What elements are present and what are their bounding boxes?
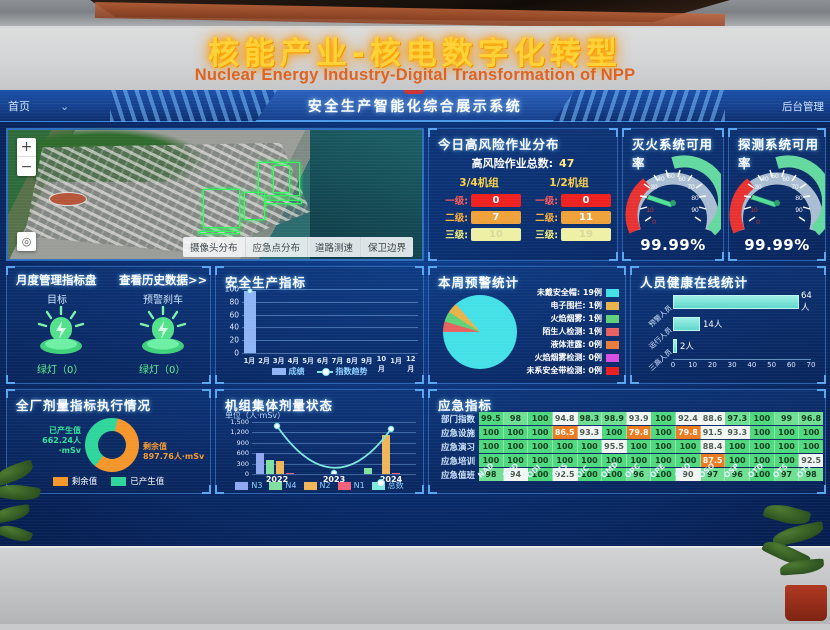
table-cell: 100: [528, 426, 553, 439]
view-history-link[interactable]: 查看历史数据>>: [119, 272, 207, 288]
y-tick: 1,500: [230, 418, 249, 426]
bar-operation-personnel: [673, 317, 700, 331]
risk-total: 高风险作业总数:47: [429, 155, 617, 171]
table-cell: 93.9: [627, 412, 652, 425]
risk-row: 二级: 7: [437, 210, 521, 224]
table-cell: 100: [676, 440, 701, 453]
gauge1-dial: 01020 304050 607080 90: [625, 155, 721, 239]
legend-swatch: [338, 482, 351, 490]
nav-home[interactable]: 首页: [8, 98, 30, 114]
y-tick: 1,200: [230, 428, 249, 436]
high-risk-distribution-panel: 今日高风险作业分布 高风险作业总数:47 3/4机组 一级: 0 二级: 7: [428, 128, 618, 261]
legend-swatch: [606, 328, 619, 336]
legend-item: 未系安全带检测: 0例: [501, 365, 619, 376]
table-cell: 100: [799, 426, 823, 439]
weekly-alarm-panel: 本周预警统计 未戴安全帽: 19例 电子围栏: 1例 火焰烟雾: 1例 陌生人检…: [428, 266, 626, 384]
health-bar-plot: 预警人员 64人 运行人员 14人 三高人员 2人: [673, 293, 811, 359]
y-tick: 300: [237, 460, 249, 468]
legend-item: 陌生人检测: 1例: [501, 326, 619, 337]
svg-text:60: 60: [678, 176, 686, 183]
legend-swatch: [111, 477, 126, 486]
screenshot-root: 核能产业-核电数字化转型 Nuclear Energy Industry-Dig…: [0, 0, 830, 624]
map-button-emergency-points[interactable]: 应急点分布: [246, 237, 309, 257]
legend-item: N1: [338, 481, 365, 490]
map-layer-buttons[interactable]: 摄像头分布 应急点分布 道路测速 保卫边界: [183, 237, 413, 257]
risk-level-value: 11: [561, 211, 611, 224]
unit-collective-dose-panel: 机组集体剂量状态 单位（人·mSv） 1,500 1,200 900 600 3…: [215, 389, 424, 494]
bar-three-high-personnel: [673, 339, 677, 353]
personnel-health-panel: 人员健康在线统计 预警人员 64人 运行人员 14人 三高人员 2人 0 10 …: [630, 266, 826, 384]
table-cell: 86.5: [553, 426, 578, 439]
map-unit-building: [244, 192, 265, 220]
svg-text:30: 30: [650, 184, 658, 191]
legend-item: 液体泄露: 0例: [501, 339, 619, 350]
legend-swatch: [53, 477, 68, 486]
svg-text:90: 90: [691, 207, 699, 214]
x-tick: 70: [807, 361, 816, 369]
legend-swatch: [606, 315, 619, 323]
gauge2-dial: 01020 304050 607080 90: [729, 155, 825, 239]
risk-total-value: 47: [559, 157, 574, 170]
risk-total-label: 高风险作业总数:: [472, 157, 553, 170]
zoom-in-icon[interactable]: +: [17, 138, 36, 157]
legend-item: 未戴安全帽: 19例: [501, 287, 619, 298]
svg-text:40: 40: [761, 176, 769, 183]
emergency-indicator-panel: 应急指标 部门指数99.59810094.898.398.993.910092.…: [428, 389, 826, 494]
y-tick: 预警人员: [647, 303, 674, 329]
legend-swatch: [606, 354, 619, 362]
legend-swatch: [606, 302, 619, 310]
monthly-title: 月度管理指标盘: [16, 272, 97, 288]
svg-text:90: 90: [795, 207, 803, 214]
app-header: 安全生产智能化综合展示系统 首页 ⌄ 后台管理: [0, 90, 830, 122]
chevron-down-icon[interactable]: ⌄: [60, 100, 69, 113]
table-cell: 100: [528, 412, 553, 425]
x-tick: 20: [708, 361, 717, 369]
svg-text:10: 10: [646, 207, 654, 214]
legend-item: N4: [269, 481, 296, 490]
map-button-road-speed[interactable]: 道路测速: [308, 237, 361, 257]
risk-group-12: 1/2机组 一级: 0 二级: 11 三级: 19: [527, 175, 611, 244]
page-title-en: Nuclear Energy Industry-Digital Transfor…: [0, 66, 830, 85]
table-cell: 100: [775, 426, 800, 439]
svg-text:60: 60: [782, 176, 790, 183]
safety-production-indicator-panel: 安全生产指标 100 80 60 40 20 0 1月 2月 3月 4月 5月 …: [215, 266, 424, 384]
bar-value: 14人: [703, 318, 722, 330]
map-zoom-controls[interactable]: + −: [17, 138, 36, 176]
table-cell: 88.4: [701, 440, 726, 453]
risk-row: 二级: 11: [527, 210, 611, 224]
site-map-panel[interactable]: + − ◎ 摄像头分布 应急点分布 道路测速 保卫边界: [6, 128, 424, 261]
table-cell: 88.6: [701, 412, 726, 425]
table-cell: 100: [651, 440, 676, 453]
bar-warning-personnel: [673, 295, 799, 309]
table-row: 部门指数99.59810094.898.398.993.910092.488.6…: [433, 412, 823, 425]
row-label: 应急设施: [433, 426, 479, 439]
y-tick: 80: [229, 297, 239, 306]
row-label: 应急培训: [433, 454, 479, 467]
table-cell: 91.5: [701, 426, 726, 439]
table-cell: 100: [479, 440, 504, 453]
risk-level-value: 10: [471, 228, 521, 241]
legend-swatch: [304, 482, 317, 490]
table-cell: 98.9: [602, 412, 627, 425]
x-tick: 0: [671, 361, 675, 369]
row-label: 应急值班: [433, 468, 479, 481]
total-trend-line: [252, 422, 416, 474]
legend-item: 火焰烟雾: 1例: [501, 313, 619, 324]
y-tick: 900: [237, 439, 249, 447]
dose-chart-title: 全厂剂量指标执行情况: [16, 395, 151, 414]
legend-item: 火焰烟雾检测: 0例: [501, 352, 619, 363]
table-cell: 97.3: [725, 412, 750, 425]
risk-columns: 3/4机组 一级: 0 二级: 7 三级: 10 1/2机组: [437, 175, 611, 244]
table-cell: 100: [504, 440, 529, 453]
health-axis-line: [673, 359, 811, 360]
legend-item: N3: [235, 481, 262, 490]
unit-chart-plot: 1,500 1,200 900 600 300 0: [252, 422, 416, 474]
dose-remaining-label: 剩余值 897.76人·mSv: [143, 442, 204, 462]
system-title: 安全生产智能化综合展示系统: [255, 90, 575, 122]
risk-level-value: 0: [471, 194, 521, 207]
risk-row: 三级: 10: [437, 227, 521, 241]
risk-level-label: 三级:: [527, 227, 561, 241]
table-cell: 100: [528, 440, 553, 453]
table-cell: 100: [553, 440, 578, 453]
legend-item: 总数: [372, 480, 404, 491]
risk-level-value: 19: [561, 228, 611, 241]
table-cell: 100: [799, 440, 823, 453]
x-tick: 40: [747, 361, 756, 369]
svg-text:0: 0: [756, 219, 760, 226]
risk-group-title: 3/4机组: [437, 175, 521, 190]
wall-below-screen: [0, 548, 830, 624]
x-tick: 30: [728, 361, 737, 369]
table-cell: 99.5: [479, 412, 504, 425]
table-cell: 99: [775, 412, 800, 425]
safety-chart-plot: 100 80 60 40 20 0: [242, 289, 418, 353]
map-button-perimeter[interactable]: 保卫边界: [361, 237, 413, 257]
bar-value: 2人: [680, 340, 694, 352]
risk-row: 一级: 0: [437, 193, 521, 207]
legend-item: 剩余值: [53, 475, 98, 487]
header-stripes-right: [555, 90, 725, 122]
detection-availability-panel: 探测系统可用率 01020: [728, 128, 826, 261]
x-tick: 10: [688, 361, 697, 369]
map-button-cameras[interactable]: 摄像头分布: [183, 237, 246, 257]
legend-trend: 指数趋势: [317, 366, 368, 377]
monthly-warning-brake-label: 预警刹车: [143, 291, 183, 306]
svg-text:80: 80: [691, 195, 699, 202]
table-cell: 100: [750, 426, 775, 439]
table-cell: 79.8: [627, 426, 652, 439]
table-cell: 100: [775, 440, 800, 453]
gauge2-value: 99.99%: [729, 236, 825, 254]
svg-text:50: 50: [667, 173, 675, 180]
table-cell: 100: [627, 440, 652, 453]
display-screen: 安全生产智能化综合展示系统 首页 ⌄ 后台管理 + −: [0, 90, 830, 548]
legend-score: 成绩: [272, 366, 305, 377]
table-cell: 95.5: [602, 440, 627, 453]
legend-swatch: [606, 341, 619, 349]
map-boundary-line: [265, 200, 302, 204]
table-row: 应急设施10010010086.593.310079.810079.891.59…: [433, 426, 823, 439]
y-tick: 600: [237, 449, 249, 457]
fire-suppression-availability-panel: 灭火系统可用率 01020: [622, 128, 724, 261]
green-light-icon: [131, 305, 195, 357]
legend-item: 已产生值: [111, 475, 164, 487]
row-label: 应急演习: [433, 440, 479, 453]
table-cell: 96.8: [799, 412, 823, 425]
risk-level-label: 一级:: [437, 193, 471, 207]
health-chart-title: 人员健康在线统计: [640, 272, 748, 291]
svg-text:80: 80: [795, 195, 803, 202]
svg-text:70: 70: [687, 184, 695, 191]
nav-admin[interactable]: 后台管理: [782, 99, 824, 114]
table-cell: 100: [578, 440, 603, 453]
risk-group-34: 3/4机组 一级: 0 二级: 7 三级: 10: [437, 175, 521, 244]
table-cell: 100: [750, 412, 775, 425]
x-tick: 60: [787, 361, 796, 369]
table-cell: 100: [725, 440, 750, 453]
locate-icon[interactable]: ◎: [17, 232, 36, 251]
row-label: 部门指数: [433, 412, 479, 425]
plant-pot: [785, 585, 827, 621]
legend-swatch: [606, 367, 619, 375]
table-cell: 100: [602, 426, 627, 439]
plant-dose-panel: 全厂剂量指标执行情况 已产生值 662.24人·mSv 剩余值 897.76人·…: [6, 389, 211, 494]
map-boundary-line: [198, 231, 239, 235]
risk-level-value: 0: [561, 194, 611, 207]
risk-row: 一级: 0: [527, 193, 611, 207]
table-cell: 98: [504, 412, 529, 425]
gauge1-value: 99.99%: [623, 236, 723, 254]
table-cell: 98.3: [578, 412, 603, 425]
map-sports-track: [49, 192, 86, 206]
bar-jan: [244, 291, 256, 353]
zoom-out-icon[interactable]: −: [17, 157, 36, 176]
alarm-legend: 未戴安全帽: 19例 电子围栏: 1例 火焰烟雾: 1例 陌生人检测: 1例 液…: [501, 287, 619, 378]
table-cell: 100: [504, 426, 529, 439]
unit-chart-legend: N3 N4 N2 N1 总数: [216, 480, 423, 491]
map-unit-building: [203, 189, 240, 228]
legend-swatch: [269, 482, 282, 490]
y-tick: 100: [225, 285, 239, 294]
y-tick: 20: [229, 336, 239, 345]
table-cell: 100: [651, 412, 676, 425]
y-tick: 40: [229, 323, 239, 332]
bar-value: 64人: [801, 291, 812, 313]
monthly-brake-status: 绿灯（0）: [139, 361, 185, 376]
map-unit-building: [273, 165, 290, 193]
svg-text:50: 50: [771, 173, 779, 180]
svg-text:70: 70: [791, 184, 799, 191]
table-cell: 100: [750, 440, 775, 453]
risk-group-title: 1/2机组: [527, 175, 611, 190]
svg-text:0: 0: [652, 219, 656, 226]
risk-level-label: 二级:: [437, 210, 471, 224]
table-cell: 100: [479, 426, 504, 439]
risk-level-value: 7: [471, 211, 521, 224]
trend-point-jan: [248, 289, 253, 294]
table-cell: 100: [651, 426, 676, 439]
table-cell: 92.4: [676, 412, 701, 425]
risk-panel-title: 今日高风险作业分布: [438, 134, 560, 153]
monthly-target-status: 绿灯（0）: [37, 361, 83, 376]
dose-donut-chart: [85, 418, 139, 472]
table-cell: 79.8: [676, 426, 701, 439]
svg-text:30: 30: [754, 184, 762, 191]
legend-swatch: [235, 482, 248, 490]
legend-item: N2: [304, 481, 331, 490]
risk-level-label: 二级:: [527, 210, 561, 224]
risk-row: 三级: 19: [527, 227, 611, 241]
y-tick: 0: [234, 349, 239, 358]
monthly-target-label: 目标: [47, 291, 67, 306]
monthly-indicator-panel: 月度管理指标盘 查看历史数据>> 目标 预警刹车: [6, 266, 211, 384]
table-cell: 93.3: [578, 426, 603, 439]
risk-level-label: 三级:: [437, 227, 471, 241]
emergency-column-labels: NADNPDODIOGSOICOMDOPCOPEOPOOSOOSPOTDOTSO…: [479, 470, 823, 492]
svg-text:40: 40: [657, 176, 665, 183]
table-cell: 93.3: [725, 426, 750, 439]
legend-item: 电子围栏: 1例: [501, 300, 619, 311]
y-tick: 0: [245, 470, 249, 478]
dose-generated-label: 已产生值 662.24人·mSv: [21, 426, 81, 456]
x-tick: 50: [767, 361, 776, 369]
y-tick: 运行人员: [647, 325, 674, 351]
safety-chart-legend: 成绩 指数趋势: [216, 366, 423, 377]
svg-text:10: 10: [750, 207, 758, 214]
legend-swatch: [606, 289, 619, 297]
table-cell: 94.8: [553, 412, 578, 425]
y-tick: 60: [229, 310, 239, 319]
risk-level-label: 一级:: [527, 193, 561, 207]
table-row: 应急演习10010010010010095.510010010088.41001…: [433, 440, 823, 453]
dose-legend: 剩余值 已产生值: [7, 475, 210, 487]
green-light-icon: [29, 305, 93, 357]
